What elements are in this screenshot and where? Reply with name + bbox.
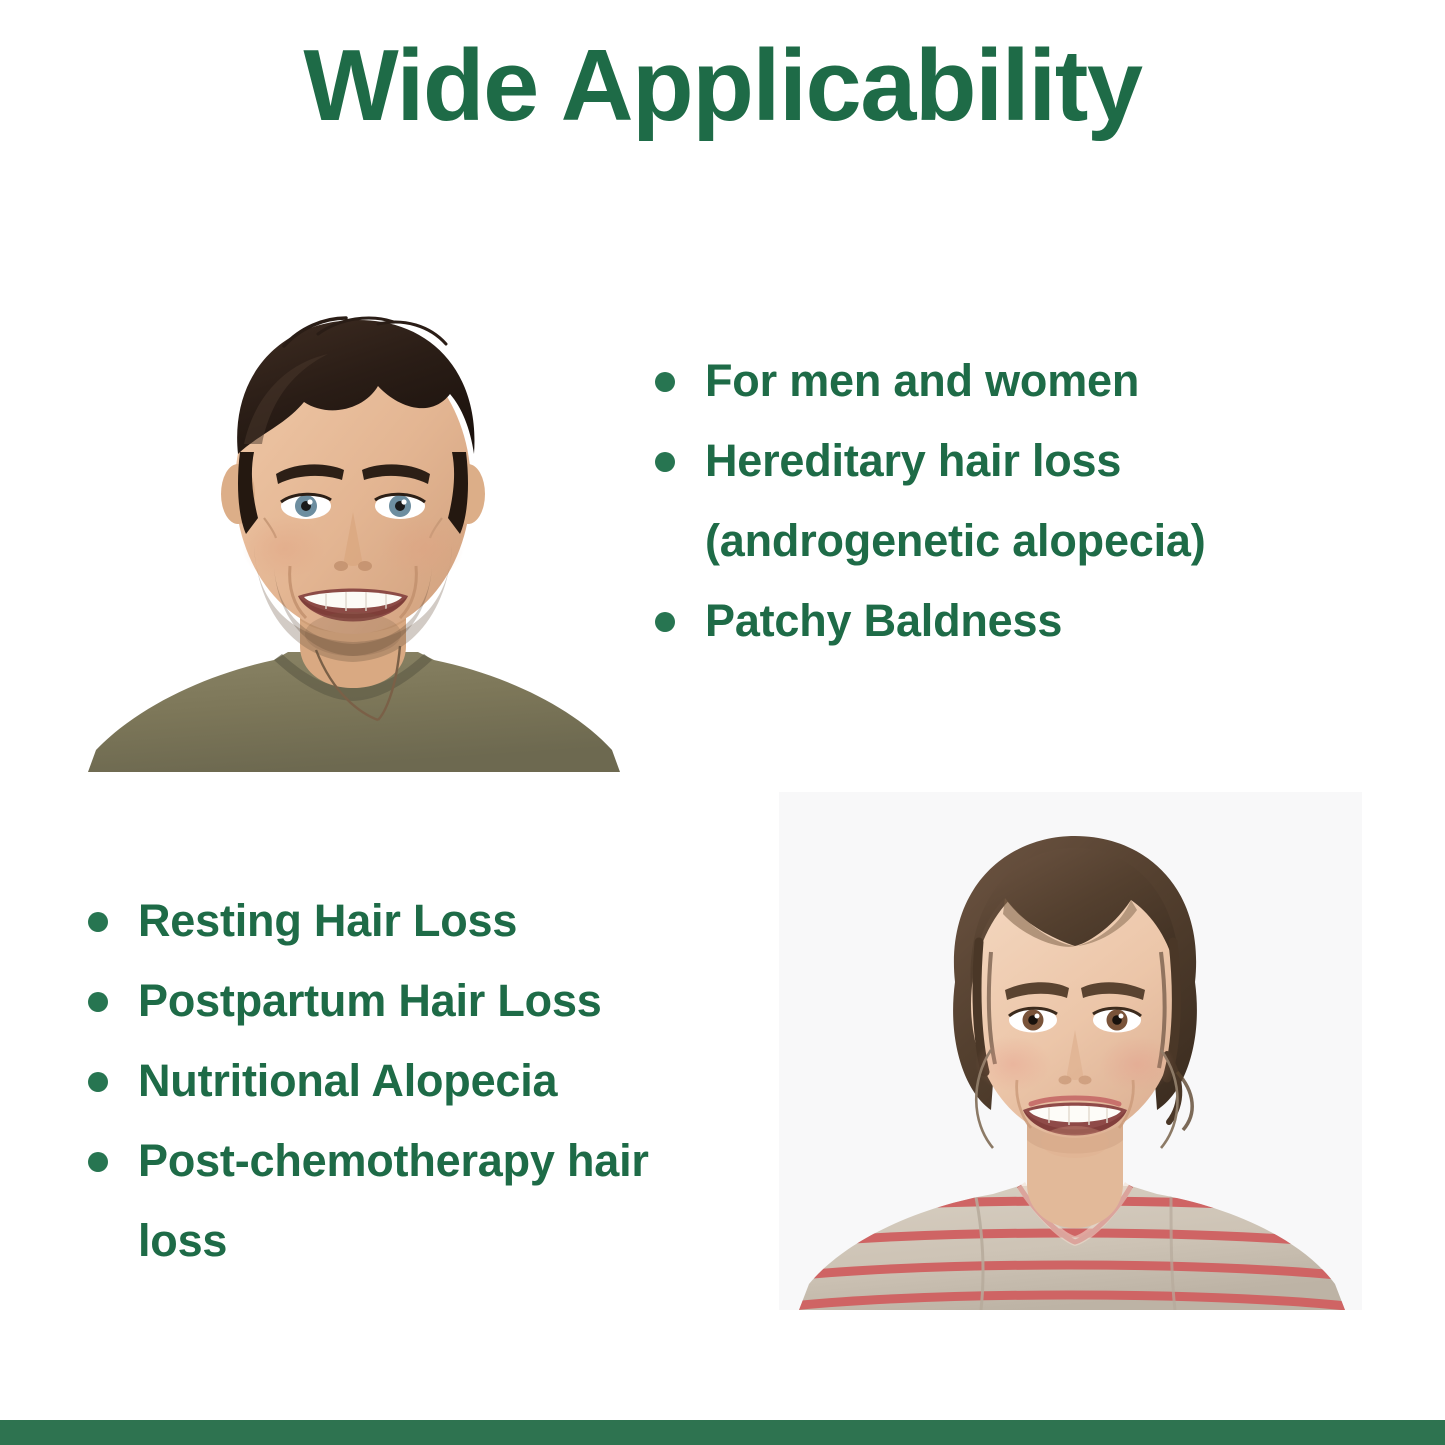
footer-accent-bar [0,1420,1445,1445]
list-item: For men and women [655,341,1385,421]
list-item: Nutritional Alopecia [88,1041,748,1121]
list-item: Hereditary hair loss (androgenetic alope… [655,421,1385,581]
infographic-page: Wide Applicability [0,0,1445,1445]
list-item-label: For men and women [705,341,1385,421]
list-item: Post-chemotherapy hair loss [88,1121,748,1281]
photo-man [78,268,628,772]
bullet-dot-icon [88,992,108,1012]
list-item-label: Resting Hair Loss [138,881,748,961]
applicability-list-secondary: Resting Hair Loss Postpartum Hair Loss N… [88,881,748,1281]
list-item-label: Post-chemotherapy hair loss [138,1121,748,1281]
bullet-dot-icon [655,612,675,632]
list-item: Postpartum Hair Loss [88,961,748,1041]
applicability-list-primary: For men and women Hereditary hair loss (… [655,341,1385,661]
list-item-label: Postpartum Hair Loss [138,961,748,1041]
woman-portrait-illustration [779,792,1362,1310]
list-item-label: Hereditary hair loss (androgenetic alope… [705,421,1385,581]
bullet-dot-icon [88,1152,108,1172]
list-item-label: Nutritional Alopecia [138,1041,748,1121]
bullet-dot-icon [88,1072,108,1092]
man-portrait-illustration [78,268,628,772]
bullet-dot-icon [655,452,675,472]
photo-woman [779,792,1362,1310]
page-title: Wide Applicability [0,36,1445,137]
bullet-dot-icon [88,912,108,932]
list-item: Patchy Baldness [655,581,1385,661]
list-item: Resting Hair Loss [88,881,748,961]
list-item-label: Patchy Baldness [705,581,1385,661]
bullet-dot-icon [655,372,675,392]
